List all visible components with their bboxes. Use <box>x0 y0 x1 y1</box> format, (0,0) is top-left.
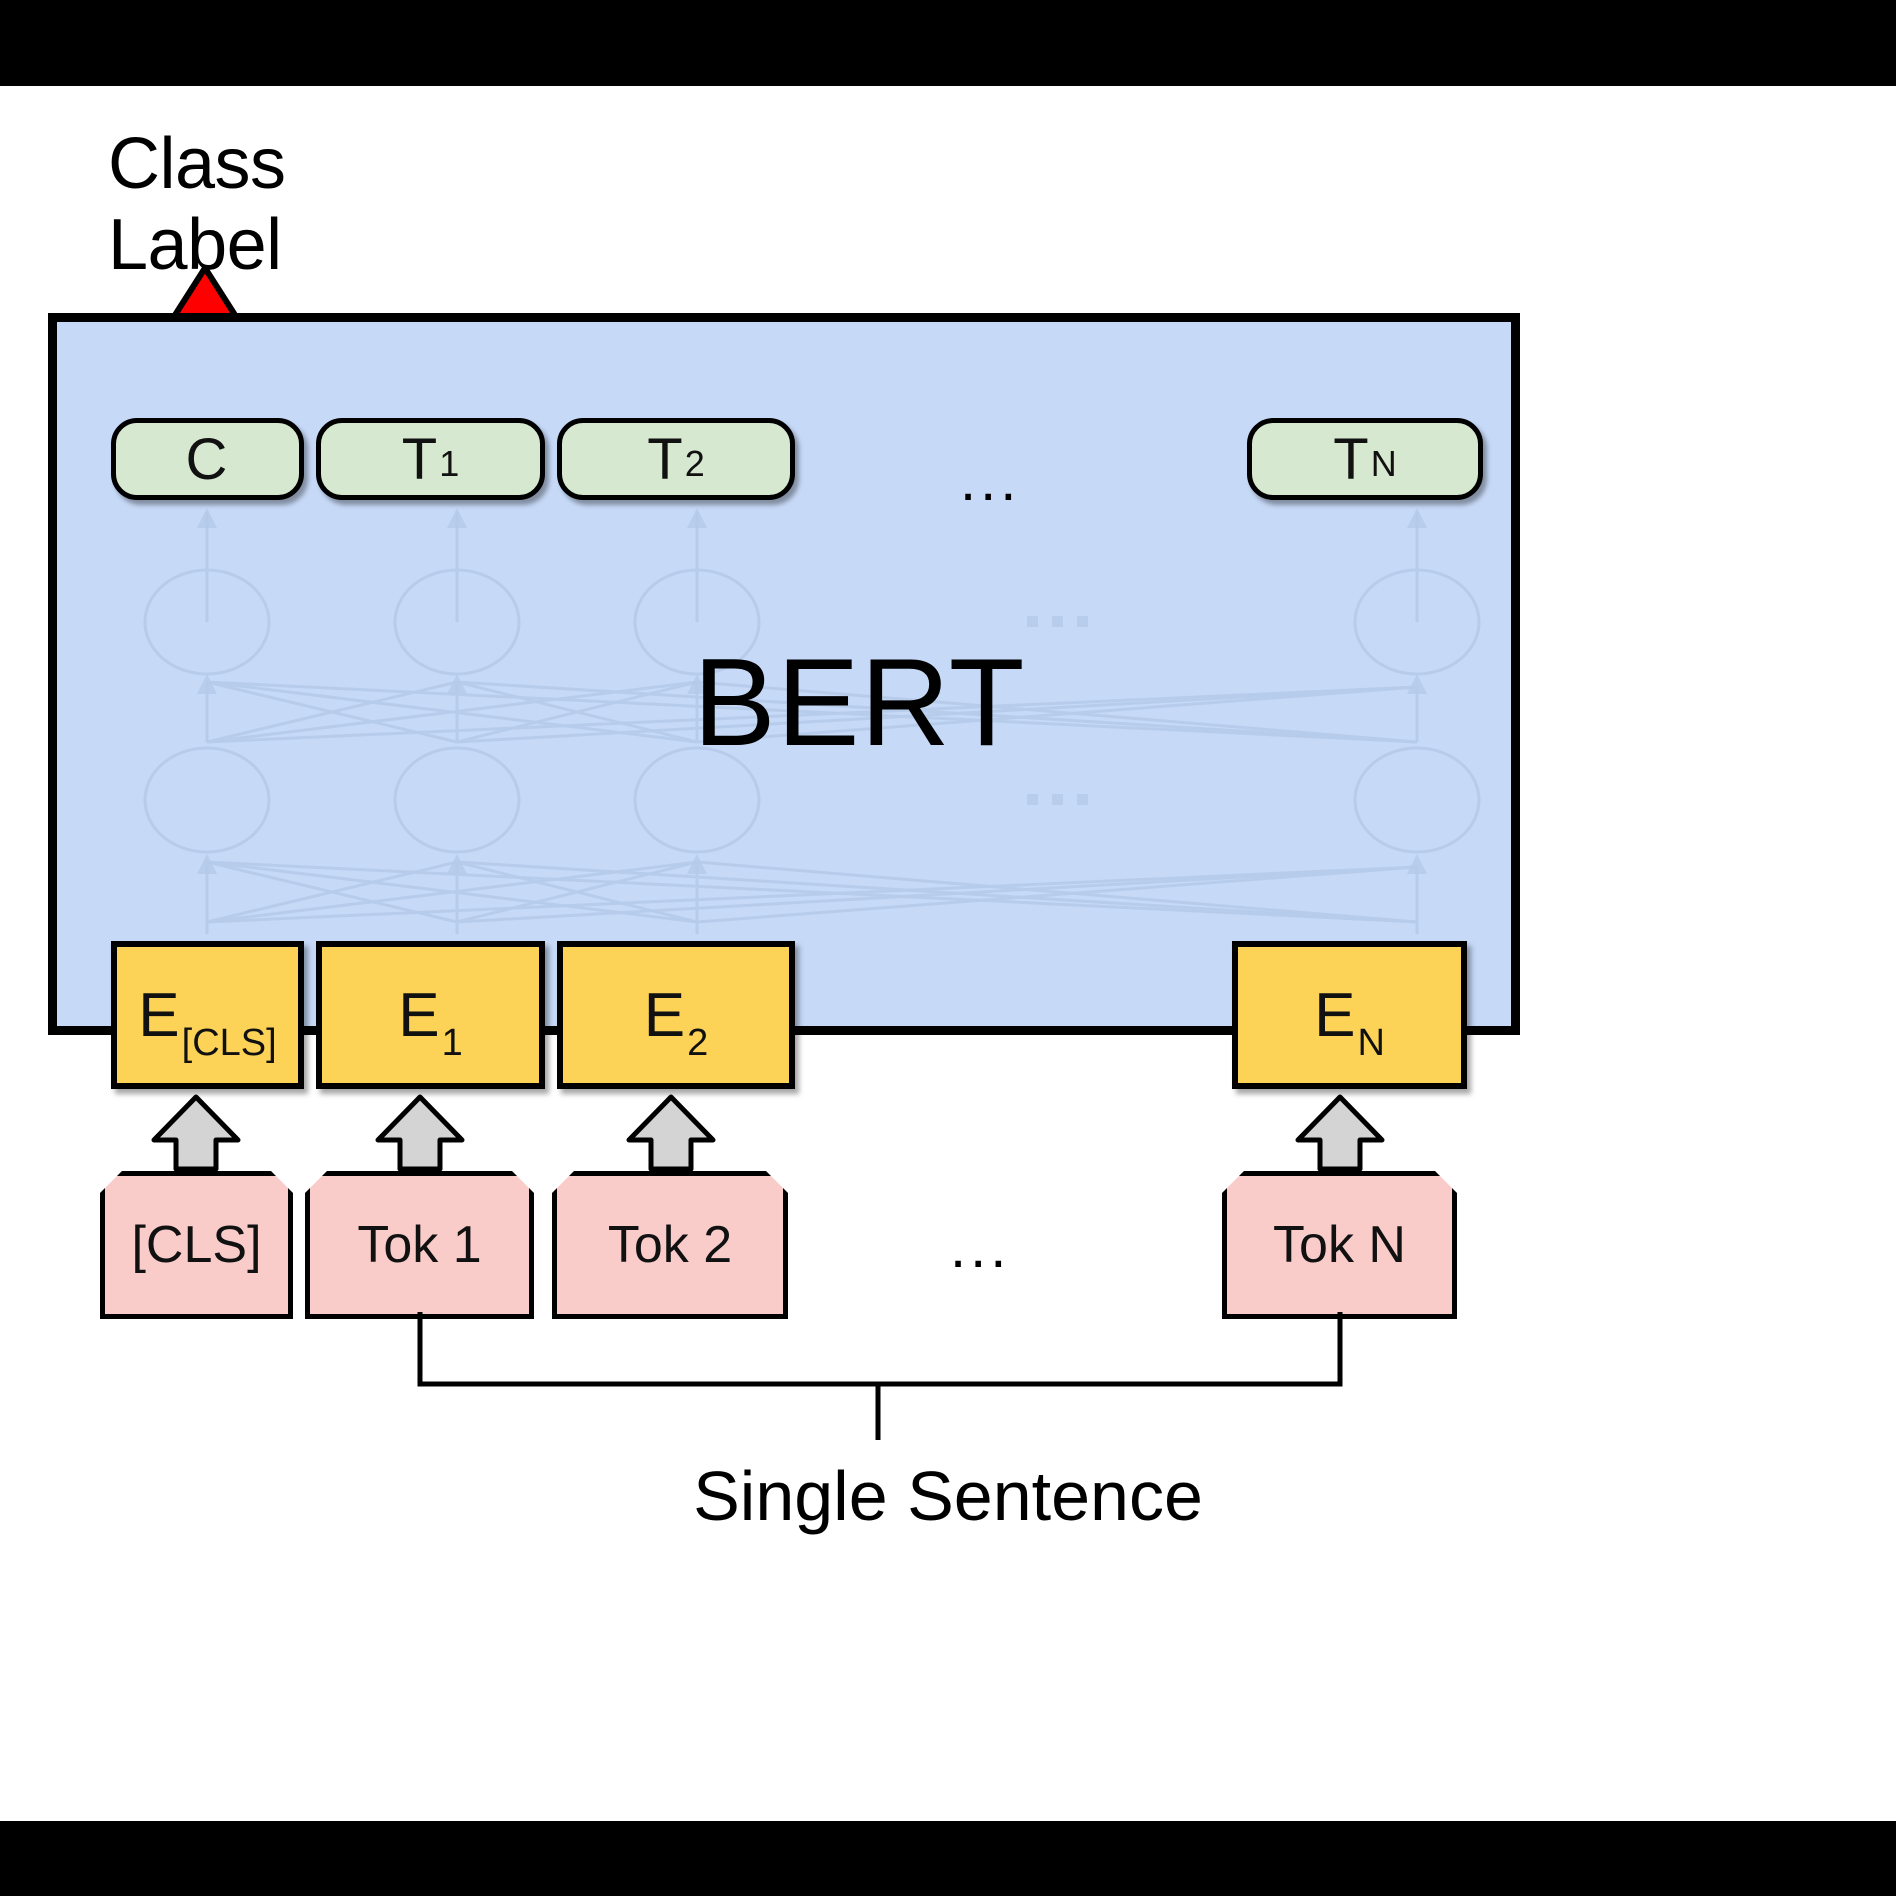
embedding-box-en[interactable]: EN <box>1232 941 1467 1089</box>
output-label-sub: 2 <box>685 443 705 485</box>
bert-encoder-container: BERT C T1 T2 TN ... E[CLS] E1 E <box>48 313 1520 1035</box>
embedding-label-sub: 1 <box>442 1022 463 1065</box>
embedding-box-e1[interactable]: E1 <box>316 941 545 1089</box>
output-label-sub: 1 <box>439 443 459 485</box>
embedding-label-base: E <box>644 980 685 1051</box>
output-label-base: T <box>402 426 437 493</box>
token-label: Tok 2 <box>608 1215 732 1275</box>
token-box-tok2[interactable]: Tok 2 <box>552 1171 788 1319</box>
output-label-sub: N <box>1371 443 1397 485</box>
embedding-label-sub: 2 <box>687 1022 708 1065</box>
sentence-bracket <box>380 1312 1380 1442</box>
embedding-box-cls[interactable]: E[CLS] <box>111 941 304 1089</box>
input-arrow-icon-tokn <box>1294 1094 1386 1172</box>
input-arrow-icon-tok1 <box>374 1094 466 1172</box>
embedding-label-base: E <box>398 980 439 1051</box>
embedding-box-e2[interactable]: E2 <box>557 941 795 1089</box>
token-box-cls[interactable]: [CLS] <box>100 1171 293 1319</box>
diagram-body: Class Label <box>0 86 1896 1821</box>
token-label: Tok N <box>1273 1215 1406 1275</box>
output-label-base: C <box>186 426 228 493</box>
output-row-ellipsis: ... <box>960 447 1020 514</box>
bert-wordmark: BERT <box>693 632 1025 774</box>
token-label: Tok 1 <box>357 1215 481 1275</box>
token-box-tokn[interactable]: Tok N <box>1222 1171 1457 1319</box>
input-arrow-icon-tok2 <box>625 1094 717 1172</box>
output-box-c[interactable]: C <box>111 418 304 500</box>
output-label-base: T <box>1333 426 1368 493</box>
token-label: [CLS] <box>131 1215 261 1275</box>
embedding-label-base: E <box>1314 980 1355 1051</box>
token-box-tok1[interactable]: Tok 1 <box>305 1171 534 1319</box>
token-row-ellipsis: ... <box>950 1214 1010 1281</box>
diagram-canvas: Class Label <box>0 0 1896 1896</box>
letterbox-top <box>0 0 1896 86</box>
embedding-label-sub: N <box>1357 1022 1384 1065</box>
single-sentence-caption: Single Sentence <box>0 1456 1896 1536</box>
output-label-base: T <box>647 426 682 493</box>
embedding-label-sub: [CLS] <box>182 1022 277 1065</box>
output-box-tn[interactable]: TN <box>1247 418 1483 500</box>
input-arrow-icon-cls <box>150 1094 242 1172</box>
output-box-t1[interactable]: T1 <box>316 418 545 500</box>
embedding-label-base: E <box>138 980 179 1051</box>
letterbox-bottom <box>0 1821 1896 1896</box>
embedding-row-ellipsis: ... <box>960 982 1020 1049</box>
output-box-t2[interactable]: T2 <box>557 418 795 500</box>
class-label-text: Class Label <box>108 124 286 285</box>
